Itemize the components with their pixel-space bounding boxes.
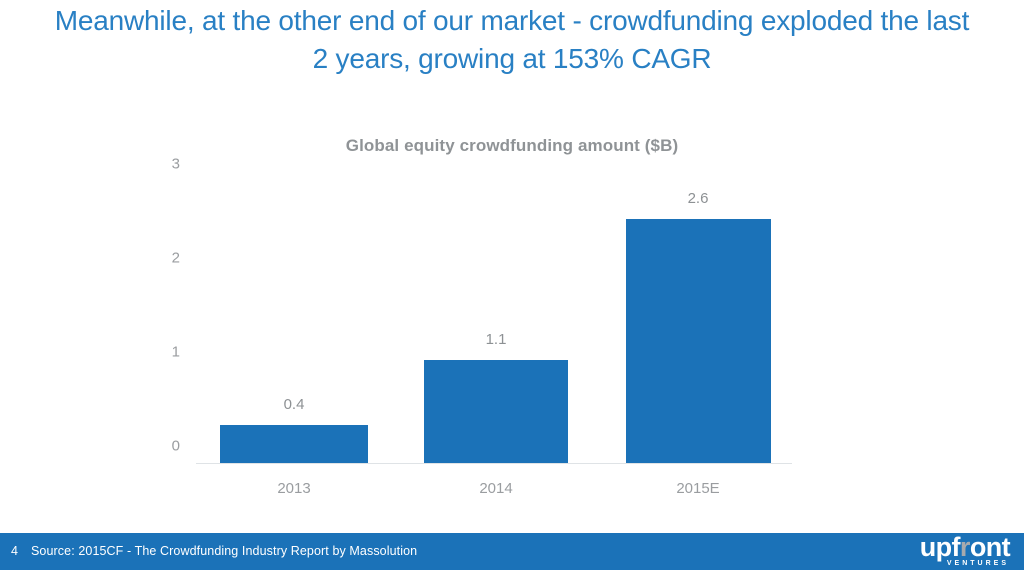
bar-2014[interactable] (424, 360, 568, 463)
upfront-ventures-logo: upfront VENTURES (890, 534, 1010, 570)
bar-group: 2.62015E (626, 181, 771, 463)
bar-2015E[interactable] (626, 219, 771, 463)
x-axis-category-label: 2015E (626, 480, 771, 497)
chart-plot-area: 0123 0.420131.120142.62015E (196, 181, 792, 463)
page-number: 4 (0, 544, 18, 558)
slide-title-line-1: Meanwhile, at the other end of our marke… (0, 2, 1024, 40)
bar-value-label: 0.4 (220, 397, 368, 412)
bar-2013[interactable] (220, 425, 368, 463)
bar-group: 0.42013 (220, 181, 368, 463)
logo-word-accent: r (960, 532, 970, 562)
y-axis-tick-label: 3 (172, 156, 180, 173)
footer-bar: 4 Source: 2015CF - The Crowdfunding Indu… (0, 533, 1024, 570)
logo-word-part-1: upf (920, 532, 960, 562)
slide-title-line-2: 2 years, growing at 153% CAGR (0, 40, 1024, 78)
bar-value-label: 1.1 (424, 332, 568, 347)
slide-title: Meanwhile, at the other end of our marke… (0, 2, 1024, 78)
logo-wordmark: upfront (920, 534, 1010, 561)
y-axis-tick-label: 1 (172, 344, 180, 361)
chart-title: Global equity crowdfunding amount ($B) (0, 136, 1024, 156)
chart-container: Global equity crowdfunding amount ($B) 0… (0, 120, 1024, 520)
source-citation: Source: 2015CF - The Crowdfunding Indust… (31, 544, 417, 558)
logo-word-part-2: ont (970, 532, 1010, 562)
x-axis-category-label: 2013 (220, 480, 368, 497)
logo-subtitle: VENTURES (947, 560, 1009, 568)
y-axis-tick-label: 0 (172, 438, 180, 455)
x-axis-category-label: 2014 (424, 480, 568, 497)
chart-baseline (196, 463, 792, 464)
bar-value-label: 2.6 (626, 191, 771, 206)
y-axis-tick-label: 2 (172, 250, 180, 267)
bar-group: 1.12014 (424, 181, 568, 463)
